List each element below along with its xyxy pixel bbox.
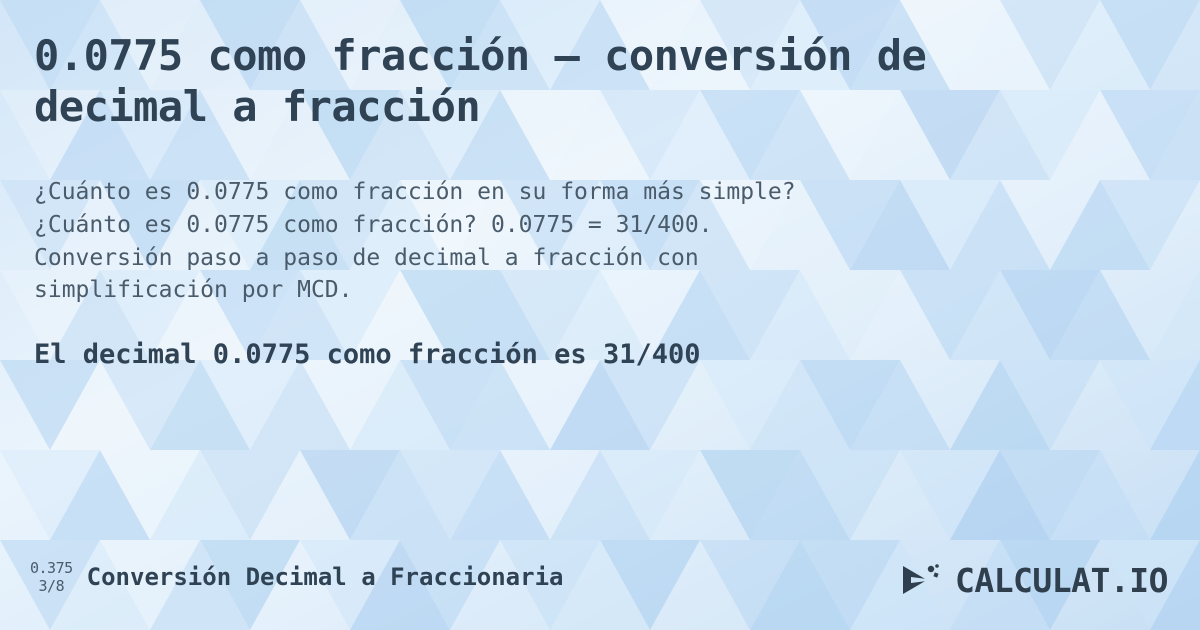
footer-title: Conversión Decimal a Fraccionaria	[87, 563, 564, 591]
page-root: 0.0775 como fracción – conversión de dec…	[0, 0, 1200, 630]
summary-line-4: simplificación por MCD.	[34, 274, 1094, 307]
answer-statement: El decimal 0.0775 como fracción es 31/40…	[34, 339, 1166, 370]
summary-line-3: Conversión paso a paso de decimal a frac…	[34, 242, 1094, 275]
calculatio-logo-mark	[901, 560, 947, 600]
brand-name: CALCULAT.IO	[955, 561, 1168, 600]
fraction-icon-numerator: 0.375	[30, 559, 73, 578]
page-title: 0.0775 como fracción – conversión de dec…	[34, 30, 1124, 132]
footer-left-group: 0.375 3/8 Conversión Decimal a Fracciona…	[30, 559, 563, 597]
decimal-fraction-icon: 0.375 3/8	[30, 559, 73, 597]
footer-bar: 0.375 3/8 Conversión Decimal a Fracciona…	[0, 520, 1200, 630]
summary-line-1: ¿Cuánto es 0.0775 como fracción en su fo…	[34, 176, 1094, 209]
summary-line-2: ¿Cuánto es 0.0775 como fracción? 0.0775 …	[34, 209, 1094, 242]
summary-text: ¿Cuánto es 0.0775 como fracción en su fo…	[34, 176, 1094, 307]
brand-logo[interactable]: CALCULAT.IO	[901, 560, 1168, 600]
fraction-icon-denominator: 3/8	[39, 577, 65, 596]
